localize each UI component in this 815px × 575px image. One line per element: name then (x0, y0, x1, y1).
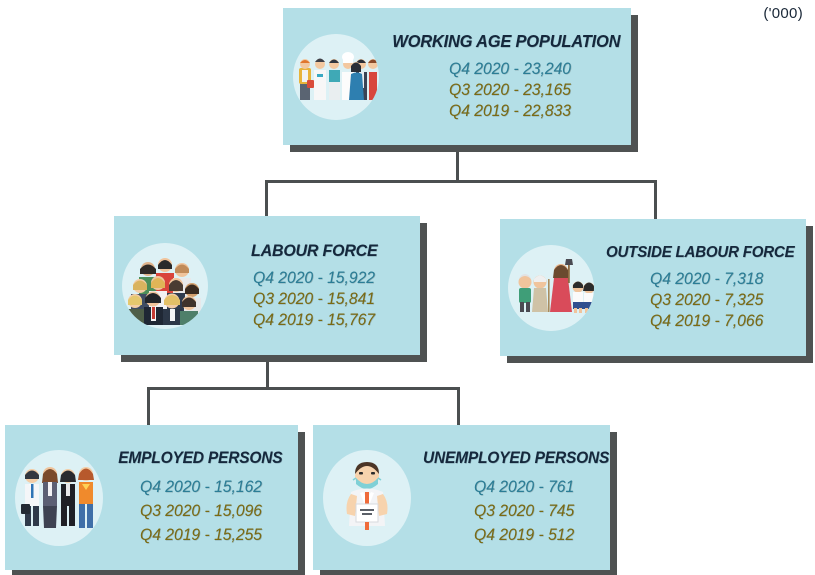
units-label: ('000) (763, 5, 803, 22)
stat-q4-2020: Q4 2020 - 15,922 (253, 268, 375, 289)
workers-group-icon (293, 34, 379, 120)
node-title: LABOUR FORCE (251, 241, 377, 261)
node-working-age-population[interactable]: WORKING AGE POPULATION Q4 2020 - 23,240 … (283, 8, 631, 145)
connector-to-outside-labour-force (654, 180, 657, 220)
stat-q3-2020: Q3 2020 - 7,325 (650, 290, 763, 311)
professionals-group-icon (15, 450, 103, 546)
connector-to-labour-force (265, 180, 268, 218)
node-outside-labour-force[interactable]: OUTSIDE LABOUR FORCE Q4 2020 - 7,318 Q3 … (500, 219, 806, 356)
node-labour-force[interactable]: LABOUR FORCE Q4 2020 - 15,922 Q3 2020 - … (114, 216, 420, 355)
node-stats: Q4 2020 - 15,922 Q3 2020 - 15,841 Q4 201… (253, 268, 381, 331)
stat-q4-2020: Q4 2020 - 23,240 (449, 59, 571, 80)
node-title: OUTSIDE LABOUR FORCE (606, 244, 794, 262)
job-seeker-masked-icon (323, 450, 411, 546)
node-stats: Q4 2020 - 761 Q3 2020 - 745 Q4 2019 - 51… (474, 475, 580, 547)
node-title: EMPLOYED PERSONS (118, 449, 282, 468)
node-stats: Q4 2020 - 23,240 Q3 2020 - 23,165 Q4 201… (449, 59, 577, 122)
stat-q4-2019: Q4 2019 - 7,066 (650, 311, 763, 332)
infographic-canvas: ('000) (0, 0, 815, 575)
stat-q4-2020: Q4 2020 - 7,318 (650, 269, 763, 290)
crowd-people-icon (122, 243, 208, 329)
stat-q4-2020: Q4 2020 - 761 (474, 475, 574, 499)
node-body: UNEMPLOYED PERSONS Q4 2020 - 761 Q3 2020… (411, 449, 621, 547)
node-employed-persons[interactable]: EMPLOYED PERSONS Q4 2020 - 15,162 Q3 202… (5, 425, 298, 570)
stat-q3-2020: Q3 2020 - 745 (474, 499, 574, 523)
stat-q4-2019: Q4 2019 - 15,767 (253, 310, 375, 331)
node-stats: Q4 2020 - 7,318 Q3 2020 - 7,325 Q4 2019 … (650, 269, 769, 332)
node-unemployed-persons[interactable]: UNEMPLOYED PERSONS Q4 2020 - 761 Q3 2020… (313, 425, 610, 570)
connector-to-employed (147, 387, 150, 426)
connector-level1-bar (265, 180, 657, 183)
node-title: WORKING AGE POPULATION (392, 31, 620, 52)
node-title: UNEMPLOYED PERSONS (423, 449, 609, 468)
connector-to-unemployed (457, 387, 460, 426)
stat-q4-2019: Q4 2019 - 512 (474, 523, 574, 547)
connector-level2-bar (147, 387, 460, 390)
stat-q4-2019: Q4 2019 - 15,255 (140, 523, 262, 547)
stat-q3-2020: Q3 2020 - 15,096 (140, 499, 262, 523)
stat-q4-2020: Q4 2020 - 15,162 (140, 475, 262, 499)
node-body: EMPLOYED PERSONS Q4 2020 - 15,162 Q3 202… (103, 449, 298, 547)
node-body: OUTSIDE LABOUR FORCE Q4 2020 - 7,318 Q3 … (594, 244, 806, 332)
family-household-icon (508, 245, 594, 331)
stat-q3-2020: Q3 2020 - 15,841 (253, 289, 375, 310)
connector-lf-stem (266, 355, 269, 389)
stat-q3-2020: Q3 2020 - 23,165 (449, 80, 571, 101)
connector-wap-stem (456, 145, 459, 181)
node-body: WORKING AGE POPULATION Q4 2020 - 23,240 … (379, 31, 634, 122)
node-stats: Q4 2020 - 15,162 Q3 2020 - 15,096 Q4 201… (140, 475, 268, 547)
stat-q4-2019: Q4 2019 - 22,833 (449, 101, 571, 122)
node-body: LABOUR FORCE Q4 2020 - 15,922 Q3 2020 - … (208, 241, 420, 331)
